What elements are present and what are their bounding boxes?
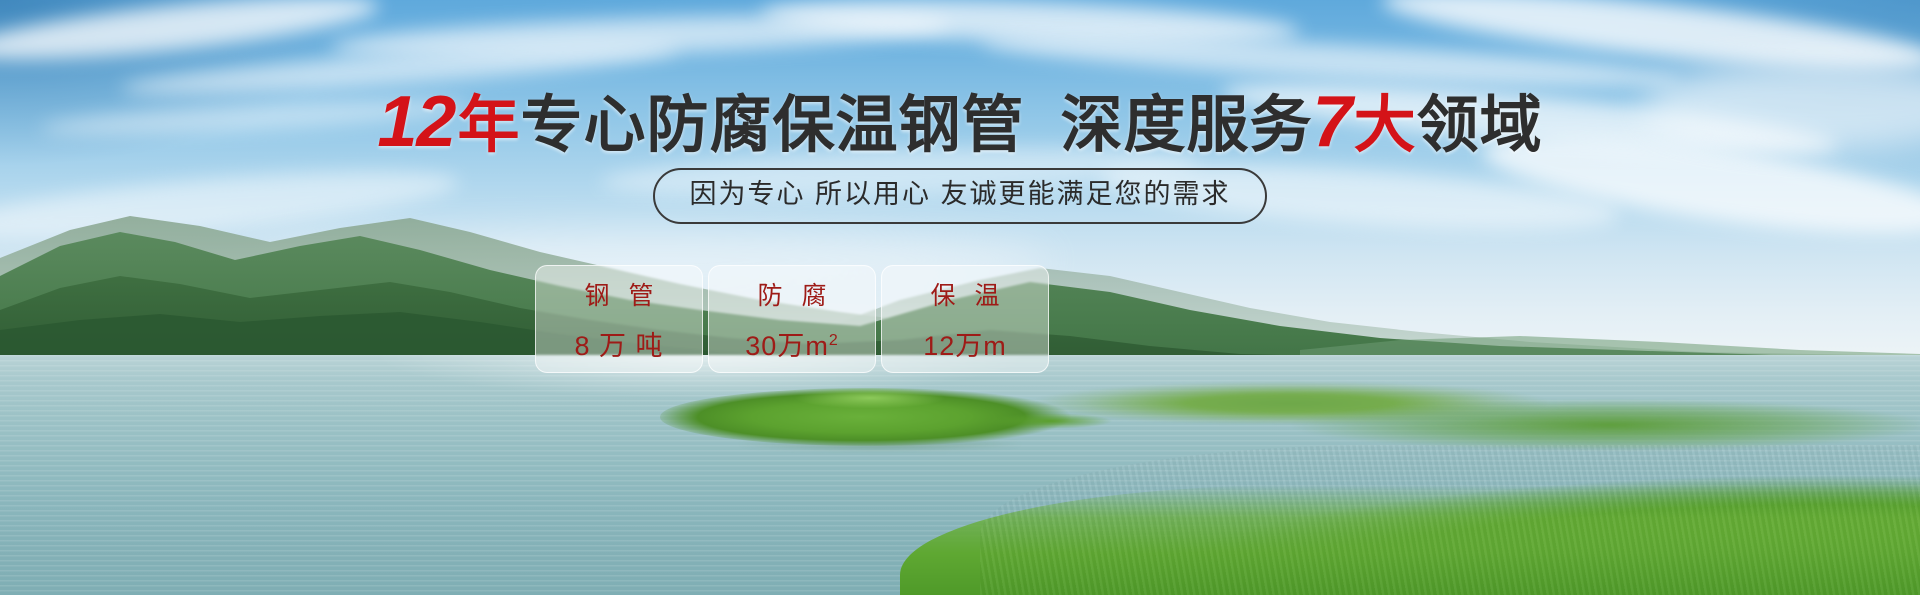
stat-card-insulation[interactable]: 保 温 12万m [881,265,1049,373]
stat-card-label: 保 温 [925,276,1006,312]
stat-card-value-superscript: 2 [829,332,839,349]
stat-card-anticorrosion[interactable]: 防 腐 30万m2 [708,265,876,373]
headline-years-unit: 年 [457,91,520,160]
stat-card-value: 8 万 吨 [574,324,663,363]
grass-island [660,378,1080,454]
stat-card-steel-pipe[interactable]: 钢 管 8 万 吨 [535,265,703,373]
headline-domains-number: 7 [1313,82,1354,162]
headline-domains-big: 大 [1354,91,1417,160]
stat-card-value-text: 30万m [745,331,829,361]
stat-card-value: 30万m2 [745,324,838,363]
stat-card-value: 12万m [923,324,1007,363]
hero-banner: 12年专心防腐保温钢管深度服务7大领域 因为专心 所以用心 友诚更能满足您的需求… [0,0,1920,595]
stat-card-label: 钢 管 [579,276,660,312]
headline-years-number: 12 [377,82,457,162]
subtitle-container: 因为专心 所以用心 友诚更能满足您的需求 [0,168,1920,224]
island-tail [970,410,1130,432]
headline: 12年专心防腐保温钢管深度服务7大领域 [0,86,1920,158]
headline-service-text: 深度服务 [1061,91,1313,160]
island-highlight [770,384,970,412]
headline-main-text: 专心防腐保温钢管 [521,91,1025,160]
stat-card-label: 防 腐 [752,276,833,312]
stat-cards: 钢 管 8 万 吨 防 腐 30万m2 保 温 12万m [535,265,1049,373]
stat-card-value-text: 8 万 吨 [574,331,663,361]
subtitle-pill: 因为专心 所以用心 友诚更能满足您的需求 [653,168,1266,224]
stat-card-value-text: 12万m [923,331,1007,361]
grass-texture-overlay [980,445,1920,595]
headline-domains-text: 领域 [1417,91,1543,160]
